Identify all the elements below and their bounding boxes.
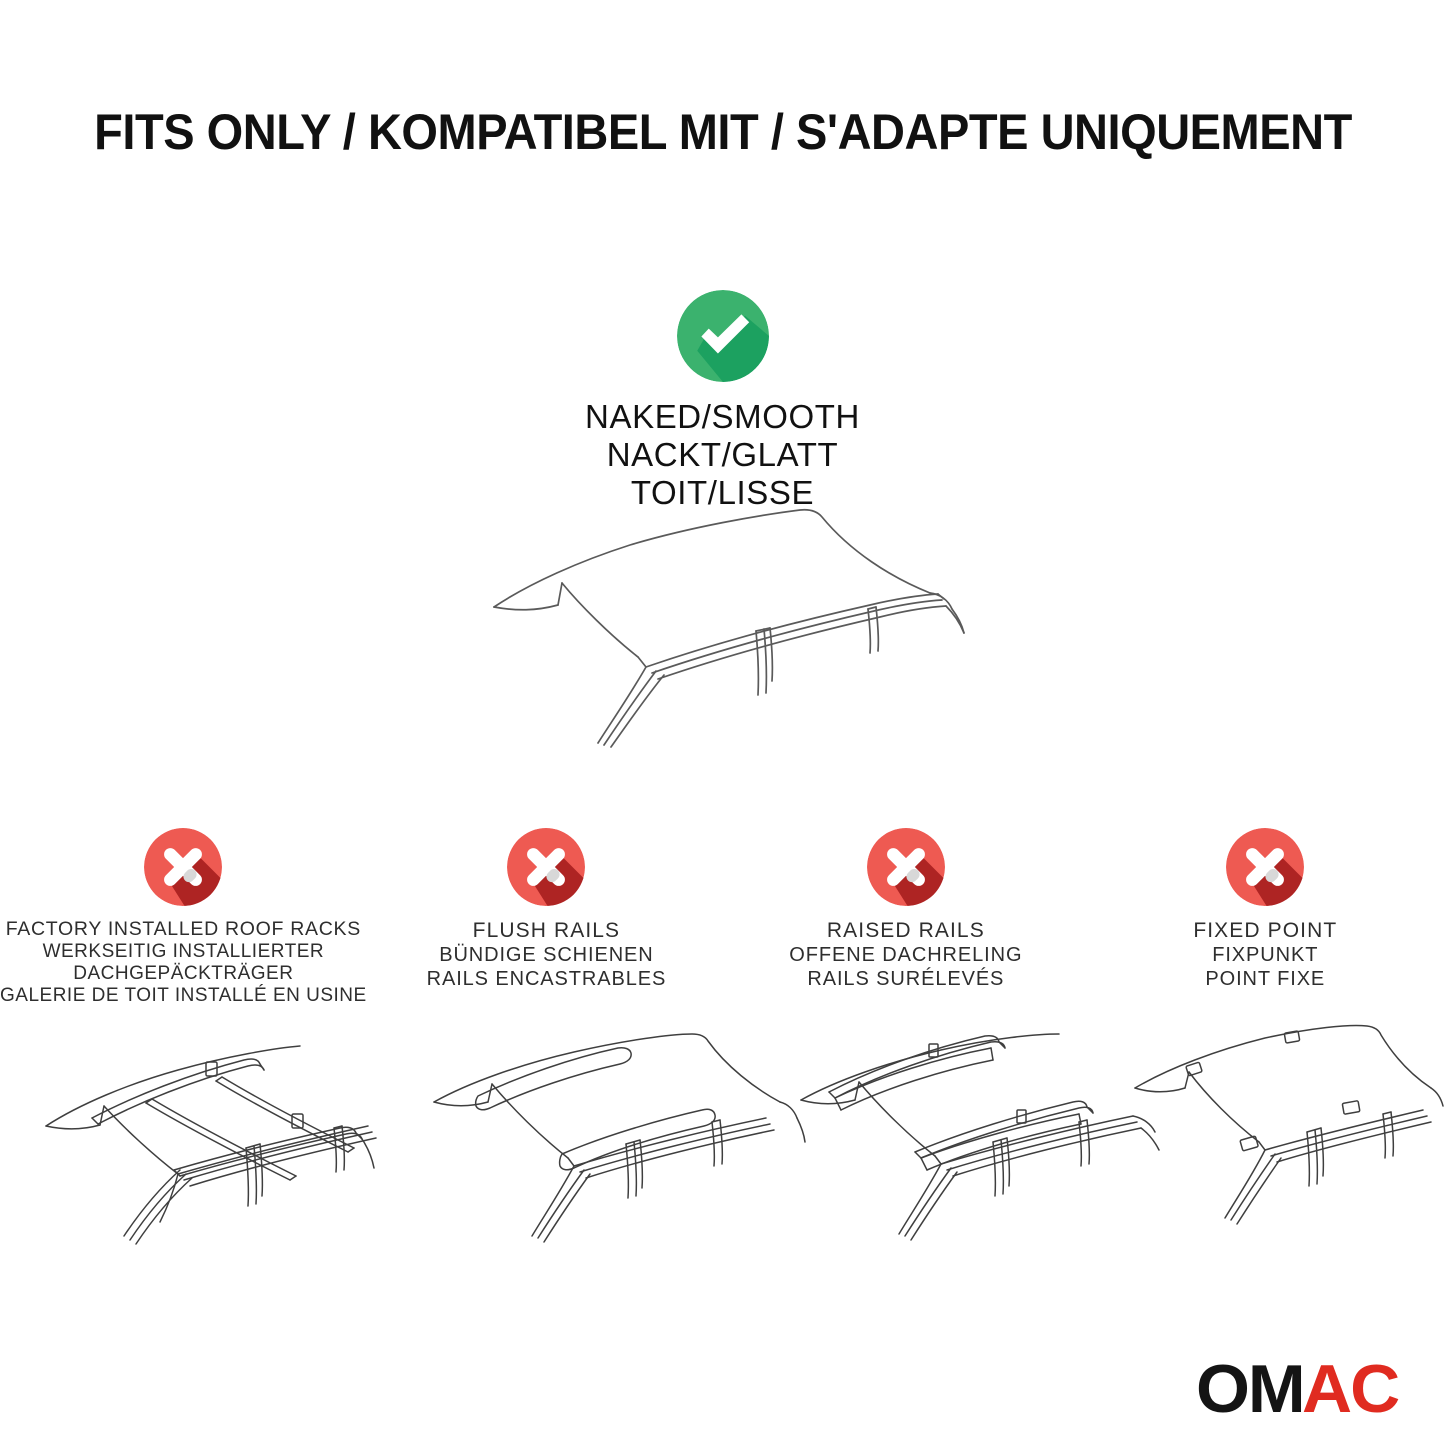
label-de-2: DACHGEPÄCKTRÄGER (0, 963, 367, 985)
incompatible-labels: RAISED RAILS OFFENE DACHRELING RAILS SUR… (726, 918, 1085, 991)
incompatible-labels: FLUSH RAILS BÜNDIGE SCHIENEN RAILS ENCAS… (367, 918, 726, 991)
label-de: FIXPUNKT (1086, 943, 1445, 967)
compatible-label-de: NACKT/GLATT (585, 436, 860, 474)
roof-drawing (785, 1022, 1175, 1257)
compatible-label-en: NAKED/SMOOTH (585, 398, 860, 436)
incompatible-item-factory-racks: FACTORY INSTALLED ROOF RACKS WERKSEITIG … (0, 828, 367, 1007)
red-x-badge (507, 828, 585, 906)
roof-with-factory-racks-illustration (28, 1022, 418, 1257)
check-mark-icon (677, 290, 769, 382)
omac-logo: OM AC (1197, 1355, 1397, 1423)
logo-text-dark: OM (1196, 1355, 1304, 1423)
label-fr: POINT FIXE (1086, 967, 1445, 991)
incompatible-labels: FACTORY INSTALLED ROOF RACKS WERKSEITIG … (0, 918, 367, 1007)
smooth-naked-roof-illustration (470, 495, 990, 755)
page-title: FITS ONLY / KOMPATIBEL MIT / S'ADAPTE UN… (0, 103, 1445, 161)
red-x-badge (867, 828, 945, 906)
incompatible-item-fixed-point: FIXED POINT FIXPUNKT POINT FIXE (1086, 828, 1445, 1007)
label-en: RAISED RAILS (726, 918, 1085, 943)
label-en: FLUSH RAILS (367, 918, 726, 943)
logo-text-accent: AC (1302, 1355, 1398, 1423)
label-fr: RAILS SURÉLEVÉS (726, 967, 1085, 991)
x-mark-icon (507, 828, 585, 906)
roof-with-fixed-points-illustration (1125, 1022, 1445, 1257)
label-fr: GALERIE DE TOIT INSTALLÉ EN USINE (0, 985, 367, 1007)
label-de: OFFENE DACHRELING (726, 943, 1085, 967)
roof-drawing (1125, 1022, 1445, 1257)
page-title-text: FITS ONLY / KOMPATIBEL MIT / S'ADAPTE UN… (94, 103, 1352, 161)
roof-drawing (470, 495, 990, 755)
label-de-1: WERKSEITIG INSTALLIERTER (0, 941, 367, 963)
roof-with-flush-rails-illustration (420, 1022, 810, 1257)
label-fr: RAILS ENCASTRABLES (367, 967, 726, 991)
label-en: FACTORY INSTALLED ROOF RACKS (0, 918, 367, 941)
x-mark-icon (867, 828, 945, 906)
incompatible-item-raised-rails: RAISED RAILS OFFENE DACHRELING RAILS SUR… (726, 828, 1085, 1007)
incompatible-labels: FIXED POINT FIXPUNKT POINT FIXE (1086, 918, 1445, 991)
red-x-badge (1226, 828, 1304, 906)
x-mark-icon (144, 828, 222, 906)
incompatible-item-flush-rails: FLUSH RAILS BÜNDIGE SCHIENEN RAILS ENCAS… (367, 828, 726, 1007)
label-de: BÜNDIGE SCHIENEN (367, 943, 726, 967)
incompatible-row: FACTORY INSTALLED ROOF RACKS WERKSEITIG … (0, 828, 1445, 1007)
roof-drawing (28, 1022, 418, 1257)
red-x-badge (144, 828, 222, 906)
label-en: FIXED POINT (1086, 918, 1445, 943)
compatible-section: NAKED/SMOOTH NACKT/GLATT TOIT/LISSE (0, 290, 1445, 512)
x-mark-icon (1226, 828, 1304, 906)
green-check-badge (677, 290, 769, 382)
roof-drawing (420, 1022, 810, 1257)
roof-with-raised-rails-illustration (785, 1022, 1175, 1257)
